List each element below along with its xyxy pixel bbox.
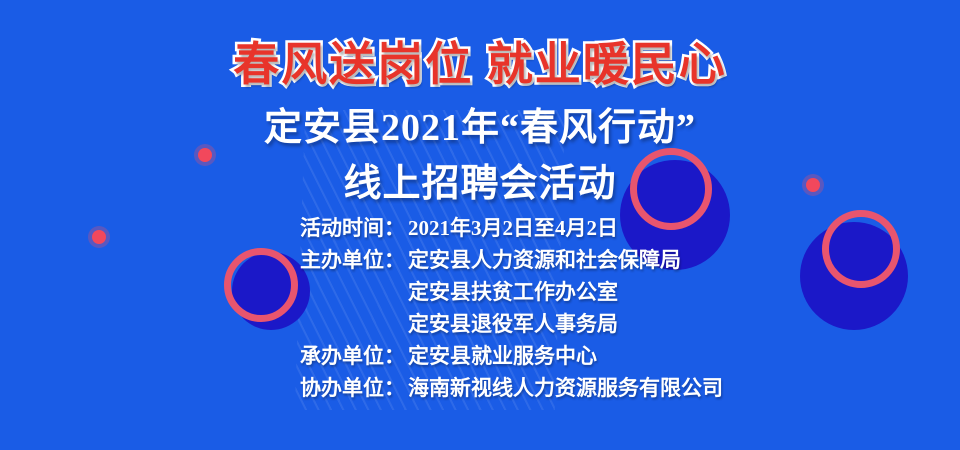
detail-value: 定安县人力资源和社会保障局 <box>408 244 681 274</box>
event-details-list: 活动时间：2021年3月2日至4月2日主办单位：定安县人力资源和社会保障局定安县… <box>300 212 920 404</box>
detail-value: 定安县扶贫工作办公室 <box>408 276 618 306</box>
promotional-poster: 春风送岗位 就业暖民心 定安县2021年“春风行动” 线上招聘会活动 活动时间：… <box>0 0 960 450</box>
detail-row: 主办单位：定安县人力资源和社会保障局 <box>300 244 920 276</box>
detail-value: 定安县就业服务中心 <box>408 340 597 370</box>
poster-headline: 春风送岗位 就业暖民心 <box>0 28 960 94</box>
detail-value: 2021年3月2日至4月2日 <box>408 212 618 242</box>
detail-value: 海南新视线人力资源服务有限公司 <box>408 372 723 402</box>
detail-value: 定安县退役军人事务局 <box>408 308 618 338</box>
detail-label: 协办单位： <box>300 372 408 402</box>
detail-row: 协办单位：海南新视线人力资源服务有限公司 <box>300 372 920 404</box>
detail-label: 活动时间： <box>300 212 408 242</box>
detail-label: 承办单位： <box>300 340 408 370</box>
detail-row: 定安县扶贫工作办公室 <box>300 276 920 308</box>
poster-subtitle-line-2: 线上招聘会活动 <box>0 152 960 207</box>
detail-label: 主办单位： <box>300 244 408 274</box>
poster-subtitle-line-1: 定安县2021年“春风行动” <box>0 96 960 151</box>
poster-content: 春风送岗位 就业暖民心 定安县2021年“春风行动” 线上招聘会活动 活动时间：… <box>0 0 960 450</box>
detail-row: 承办单位：定安县就业服务中心 <box>300 340 920 372</box>
detail-row: 定安县退役军人事务局 <box>300 308 920 340</box>
detail-row: 活动时间：2021年3月2日至4月2日 <box>300 212 920 244</box>
